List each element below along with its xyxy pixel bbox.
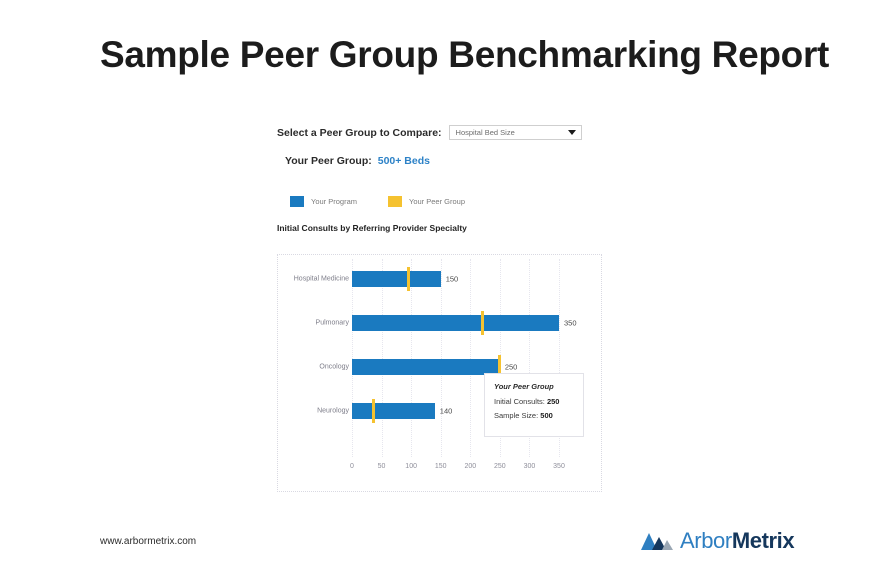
chart-tooltip-row: Initial Consults: 250 bbox=[494, 397, 583, 406]
mountain-peaks-icon bbox=[640, 531, 674, 551]
legend-label-your-program: Your Program bbox=[311, 197, 357, 206]
chart-tooltip-row-label: Initial Consults: bbox=[494, 397, 545, 406]
brand-logo: ArborMetrix bbox=[640, 528, 794, 554]
chart-tooltip-row-value: 250 bbox=[547, 397, 560, 406]
brand-name-second: Metrix bbox=[732, 528, 794, 553]
chart-x-tick-label: 100 bbox=[405, 463, 417, 470]
chart-peer-group-marker[interactable] bbox=[481, 311, 484, 335]
chart-category-label: Neurology bbox=[317, 408, 349, 415]
brand-name-first: Arbor bbox=[680, 528, 732, 553]
chart-bar-value-label: 150 bbox=[446, 275, 459, 284]
chart-x-tick-label: 150 bbox=[435, 463, 447, 470]
chart-category-label: Pulmonary bbox=[316, 320, 349, 327]
your-peer-group-value[interactable]: 500+ Beds bbox=[378, 155, 430, 167]
chart-panel: Hospital Medicine150Pulmonary350Oncology… bbox=[277, 254, 602, 492]
chart-x-axis: 050100150200250300350 bbox=[278, 463, 601, 477]
chart-bar-value-label: 140 bbox=[440, 407, 453, 416]
chart-peer-group-marker[interactable] bbox=[407, 267, 410, 291]
chart-x-tick-label: 0 bbox=[350, 463, 354, 470]
chart-category-label: Hospital Medicine bbox=[294, 276, 349, 283]
chart-bar[interactable] bbox=[352, 403, 435, 419]
peer-group-selector-label: Select a Peer Group to Compare: bbox=[277, 127, 442, 139]
your-peer-group-label: Your Peer Group: bbox=[285, 155, 372, 167]
chart-bar[interactable] bbox=[352, 359, 500, 375]
chart-bar[interactable] bbox=[352, 271, 441, 287]
chart-bar-value-label: 350 bbox=[564, 319, 577, 328]
chart-bar-row: Hospital Medicine150 bbox=[278, 257, 601, 301]
page-title: Sample Peer Group Benchmarking Report bbox=[100, 34, 800, 76]
chart-tooltip-row-label: Sample Size: bbox=[494, 411, 538, 420]
chart-x-tick-label: 200 bbox=[464, 463, 476, 470]
chart-x-tick-label: 350 bbox=[553, 463, 565, 470]
chart-bar-row: Pulmonary350 bbox=[278, 301, 601, 345]
chevron-down-icon bbox=[568, 130, 576, 135]
chart-x-tick-label: 50 bbox=[378, 463, 386, 470]
chart-bar-track bbox=[352, 315, 559, 331]
chart-peer-group-marker[interactable] bbox=[372, 399, 375, 423]
chart-bar[interactable] bbox=[352, 315, 559, 331]
peer-group-selector-row: Select a Peer Group to Compare: Hospital… bbox=[277, 125, 582, 140]
chart-legend: Your Program Your Peer Group bbox=[290, 196, 496, 207]
legend-label-your-peer-group: Your Peer Group bbox=[409, 197, 465, 206]
chart-tooltip-title: Your Peer Group bbox=[494, 382, 583, 391]
legend-swatch-your-peer-group bbox=[388, 196, 402, 207]
brand-text: ArborMetrix bbox=[680, 528, 794, 554]
legend-item-your-peer-group[interactable]: Your Peer Group bbox=[388, 196, 465, 207]
chart-category-label: Oncology bbox=[319, 364, 349, 371]
footer-url[interactable]: www.arbormetrix.com bbox=[100, 536, 196, 547]
chart-title: Initial Consults by Referring Provider S… bbox=[277, 223, 467, 233]
legend-swatch-your-program bbox=[290, 196, 304, 207]
peer-group-select-value: Hospital Bed Size bbox=[456, 128, 515, 137]
chart-x-tick-label: 250 bbox=[494, 463, 506, 470]
chart-bar-value-label: 250 bbox=[505, 363, 518, 372]
your-peer-group-line: Your Peer Group: 500+ Beds bbox=[285, 155, 430, 167]
chart-tooltip-row: Sample Size: 500 bbox=[494, 411, 583, 420]
chart-x-tick-label: 300 bbox=[524, 463, 536, 470]
chart-tooltip: Your Peer Group Initial Consults: 250 Sa… bbox=[484, 373, 584, 437]
peer-group-select[interactable]: Hospital Bed Size bbox=[449, 125, 582, 140]
chart-tooltip-row-value: 500 bbox=[540, 411, 553, 420]
legend-item-your-program[interactable]: Your Program bbox=[290, 196, 357, 207]
